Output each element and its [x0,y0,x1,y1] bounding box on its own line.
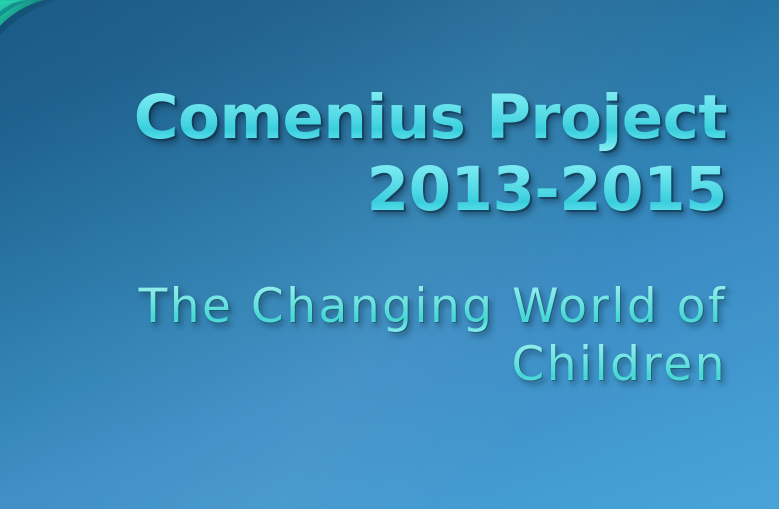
subtitle-line-1: The Changing World of [60,278,727,336]
title-line-2: 2013-2015 [60,154,727,226]
subtitle-line-2: Children [60,336,727,394]
slide-subtitle: The Changing World of Children [60,278,727,394]
title-line-1: Comenius Project [60,82,727,154]
presentation-slide: Comenius Project 2013-2015 The Changing … [0,0,779,509]
slide-text-block: Comenius Project 2013-2015 The Changing … [0,0,779,509]
slide-title: Comenius Project 2013-2015 [60,82,727,226]
